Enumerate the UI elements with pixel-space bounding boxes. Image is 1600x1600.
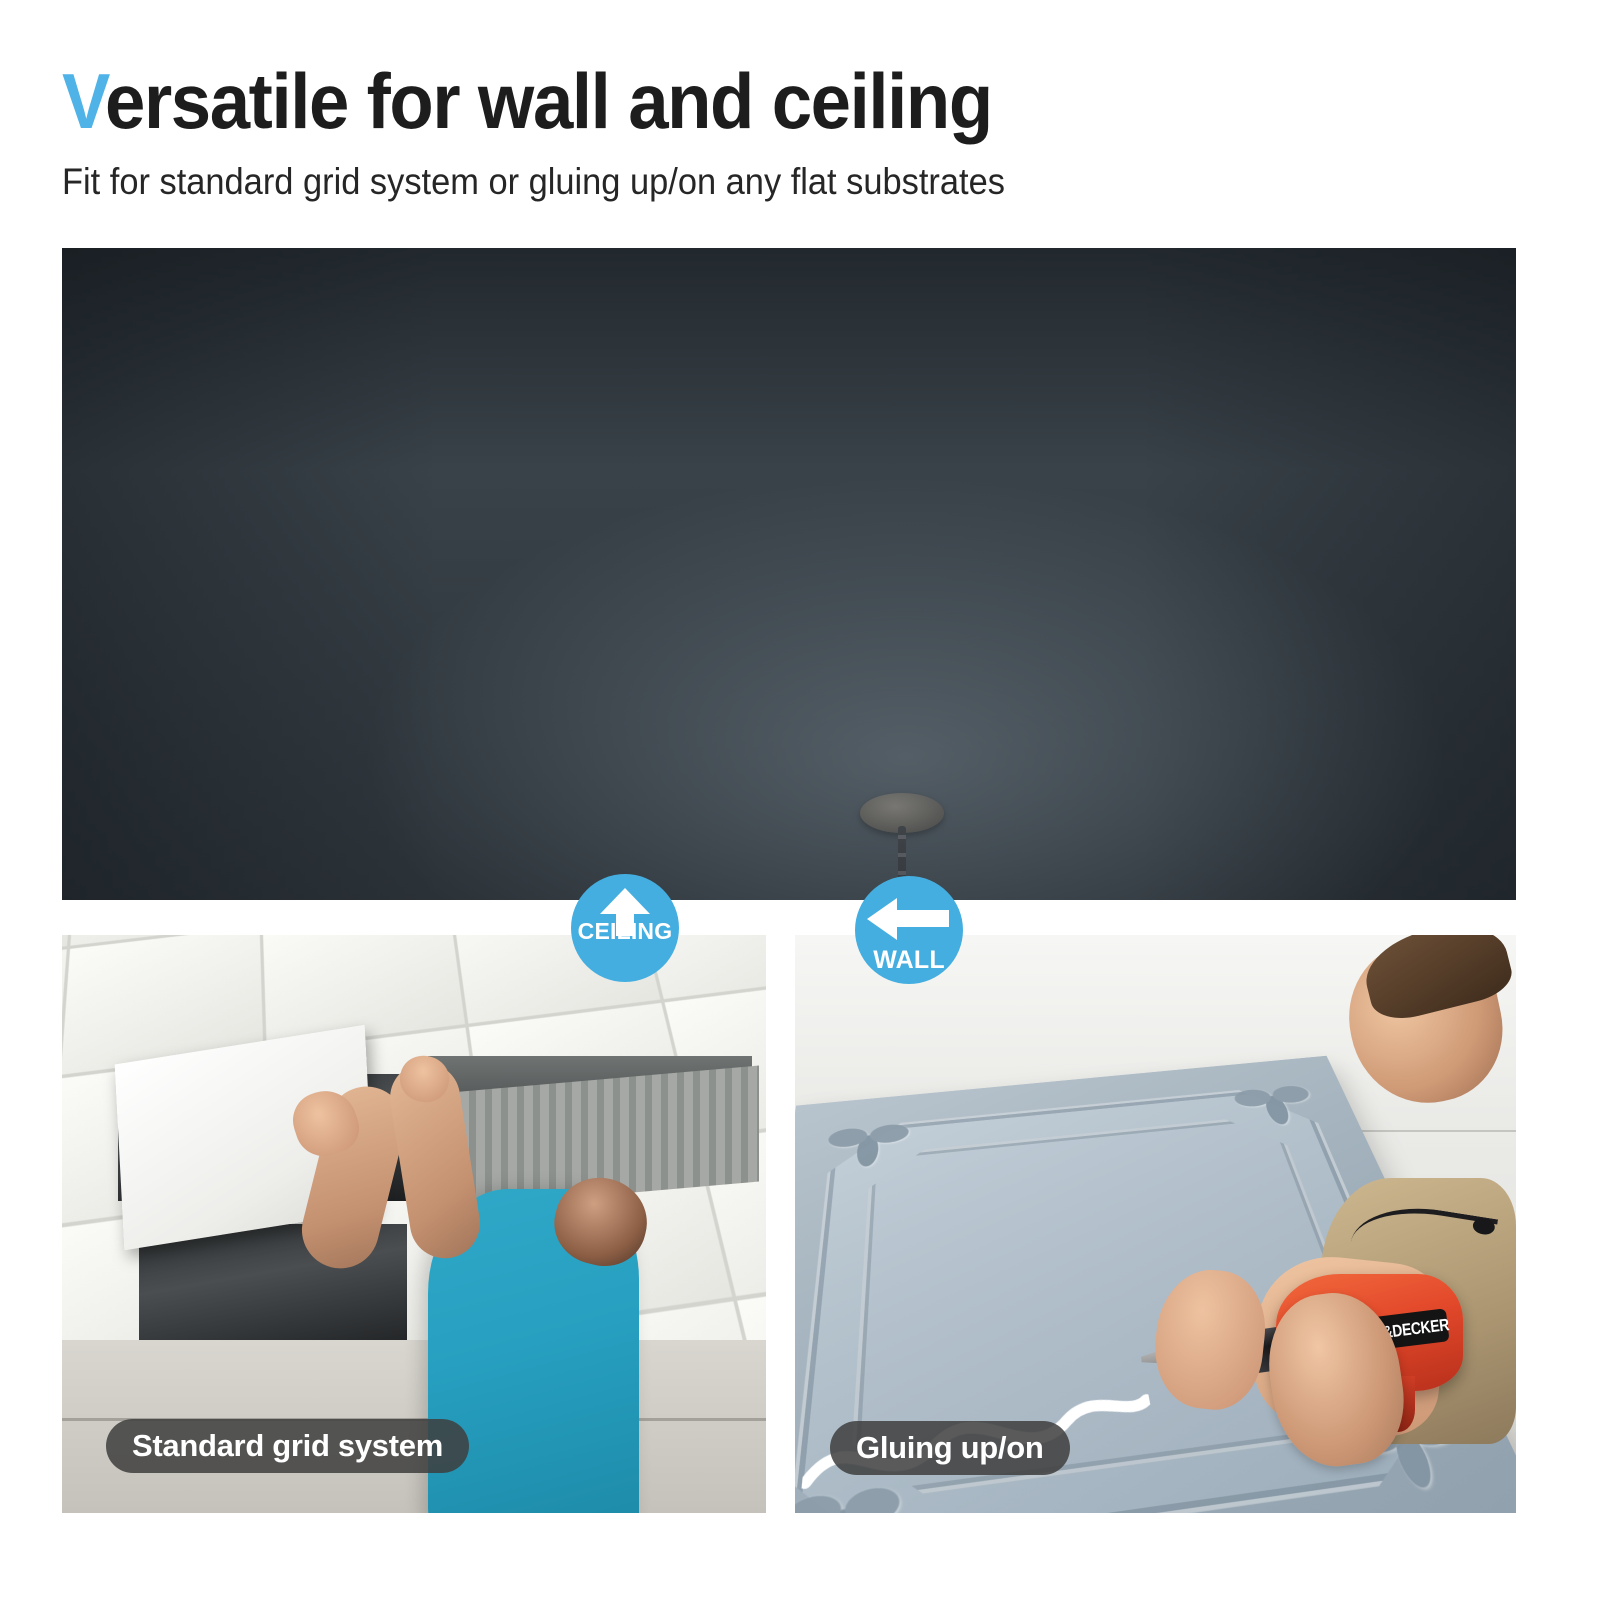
caption-standard-grid-system: Standard grid system xyxy=(106,1419,469,1473)
badge-ceiling: CEILING xyxy=(571,874,679,982)
page-title-lead-letter: V xyxy=(62,57,105,145)
caulk-gun-plunger-knob xyxy=(1471,1216,1495,1235)
badge-wall: WALL xyxy=(855,876,963,984)
arrow-left-icon xyxy=(867,898,951,938)
arrow-up-icon xyxy=(600,888,650,914)
arrow-left-head xyxy=(867,898,897,940)
hero-ceiling-image xyxy=(62,248,1516,900)
caption-gluing-up-on: Gluing up/on xyxy=(830,1421,1070,1475)
arrow-left-tail xyxy=(895,910,949,927)
fleur-de-lis-icon xyxy=(821,1111,912,1178)
ceiling-scene xyxy=(62,248,1516,900)
page-title: Versatile for wall and ceiling xyxy=(62,62,992,140)
product-feature-page: Versatile for wall and ceiling Fit for s… xyxy=(0,0,1600,1600)
page-subtitle: Fit for standard grid system or gluing u… xyxy=(62,163,1005,200)
chandelier xyxy=(62,248,1516,900)
page-title-rest: ersatile for wall and ceiling xyxy=(105,57,992,145)
fleur-de-lis-icon xyxy=(1225,1073,1326,1134)
badge-wall-label: WALL xyxy=(873,948,945,973)
